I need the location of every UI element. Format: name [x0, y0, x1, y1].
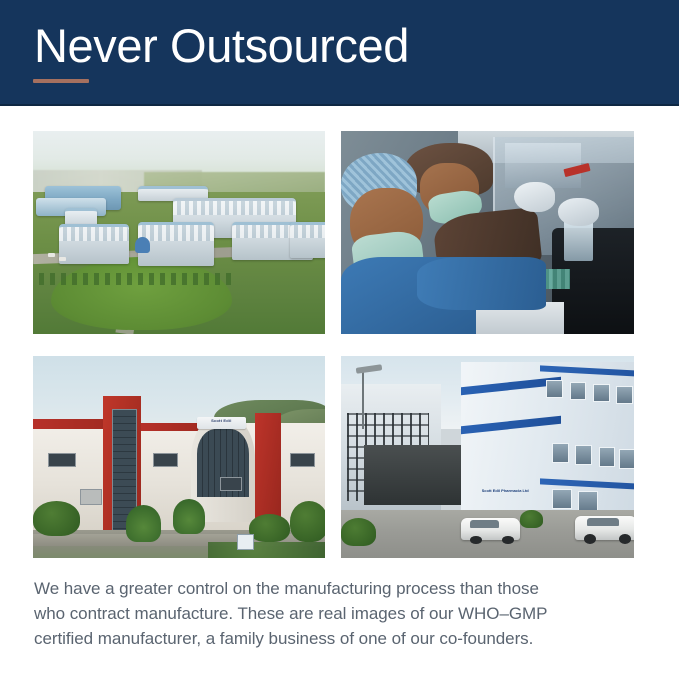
car-wheel	[470, 536, 482, 544]
shrub	[33, 501, 80, 535]
caption-paragraph: We have a greater control on the manufac…	[34, 576, 649, 651]
palm-tree	[126, 505, 161, 541]
palm-tree	[173, 499, 205, 533]
window	[153, 453, 178, 467]
water-tank	[135, 237, 150, 253]
photo-lab-technicians-image	[341, 131, 634, 334]
hedge	[208, 542, 325, 558]
red-facade-band	[33, 419, 109, 429]
parked-car	[59, 257, 66, 261]
photo-aerial-plant	[33, 131, 325, 334]
header-banner: Never Outsourced	[0, 0, 679, 106]
photo-office-building-image: Scott Edil	[33, 356, 325, 558]
red-facade-band-2	[138, 423, 202, 431]
shrub	[341, 518, 376, 546]
window	[575, 445, 592, 465]
photo-gallery: Scott Edil	[33, 131, 634, 558]
gloved-hand-2	[558, 198, 599, 226]
shrub	[520, 510, 543, 528]
notice-board	[237, 534, 254, 550]
car-window	[587, 518, 619, 526]
title-accent-rule	[33, 79, 89, 83]
car-wheel	[584, 534, 596, 544]
shrub	[249, 514, 290, 542]
window	[599, 447, 616, 467]
window	[552, 443, 569, 463]
car-wheel	[619, 534, 631, 544]
roof-ribs	[290, 225, 325, 237]
technician-1-arm	[417, 257, 546, 310]
window	[570, 382, 587, 400]
car-window	[470, 520, 499, 528]
vial	[564, 220, 593, 261]
window	[619, 449, 634, 469]
warehouse-4	[290, 222, 325, 257]
window	[48, 453, 76, 467]
window	[552, 489, 572, 509]
window	[578, 491, 598, 511]
photo-office-building: Scott Edil	[33, 356, 325, 558]
gloved-hand-1	[514, 182, 555, 212]
window	[80, 489, 102, 505]
caption-line-2: who contract manufacture. These are real…	[34, 601, 649, 626]
caption-line-1: We have a greater control on the manufac…	[34, 576, 649, 601]
window	[220, 477, 242, 491]
shrub	[290, 501, 325, 541]
building-signage-text: Scott Edil Pharmacia Ltd	[482, 489, 541, 497]
page-title: Never Outsourced	[34, 17, 409, 75]
parked-car	[48, 253, 55, 257]
window	[593, 384, 610, 402]
car-wheel	[502, 536, 514, 544]
window	[616, 386, 633, 404]
caption-line-3: certified manufacturer, a family busines…	[34, 626, 649, 651]
warehouse-1	[59, 224, 129, 264]
photo-aerial-plant-image	[33, 131, 325, 334]
window	[290, 453, 315, 467]
tree-line	[39, 273, 232, 285]
roof-ribs	[173, 201, 296, 215]
window	[546, 380, 563, 398]
light-pole	[362, 368, 364, 429]
photo-factory-exterior: Scott Edil Pharmacia Ltd	[341, 356, 634, 558]
photo-factory-exterior-image: Scott Edil Pharmacia Ltd	[341, 356, 634, 558]
roof-ribs	[59, 227, 129, 241]
hood-glass-reflection	[505, 143, 581, 188]
building-signage-text: Scott Edil	[199, 419, 243, 427]
photo-lab-technicians	[341, 131, 634, 334]
roof-ribs	[138, 225, 214, 240]
